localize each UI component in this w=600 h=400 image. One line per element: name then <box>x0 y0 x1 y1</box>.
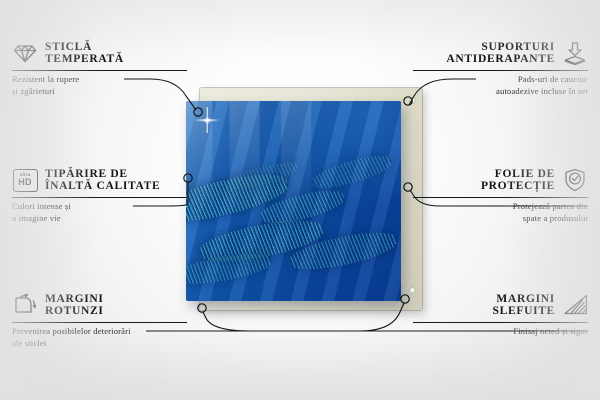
feature-hd-print[interactable]: ultra HD TIPĂRIRE DE ÎNALTĂ CALITATE Cul… <box>12 167 187 224</box>
feature-title-line: MARGINI <box>493 293 555 305</box>
feature-title-line: SLEFUITE <box>493 305 555 317</box>
feature-title-line: SUPORTURI <box>446 41 555 53</box>
feature-title: TIPĂRIRE DE ÎNALTĂ CALITATE <box>45 168 160 193</box>
feature-title-line: MARGINI <box>45 293 104 305</box>
feature-desc-line: Prevenirea posibilelor deteriorări <box>12 326 187 338</box>
feature-header: STICLĂ TEMPERATĂ <box>12 40 187 66</box>
hd-badge-hd-label: HD <box>18 178 32 187</box>
feature-description: Protejează partea din spate a produsului <box>413 201 588 224</box>
hatched-edge-icon <box>562 292 588 318</box>
ultra-hd-badge-icon: ultra HD <box>12 167 38 193</box>
feature-header: MARGINI ROTUNZI <box>12 292 187 318</box>
feature-protective-foil[interactable]: FOLIE DE PROTECȚIE Protejează partea din… <box>413 167 588 224</box>
feature-divider <box>413 322 588 323</box>
feature-desc-line: Finisaj neted și sigur <box>413 326 588 338</box>
feature-desc-line: Protejează partea din <box>413 201 588 213</box>
feature-description: Prevenirea posibilelor deteriorări ale s… <box>12 326 187 349</box>
feature-description: Culori intense și o imagine vie <box>12 201 187 224</box>
pad-arrow-down-icon <box>562 40 588 66</box>
hd-badge: ultra HD <box>13 169 38 192</box>
feature-divider <box>12 322 187 323</box>
feature-title-line: TIPĂRIRE DE <box>45 168 160 180</box>
feature-desc-line: autoadezive incluse în set <box>413 86 588 98</box>
feature-header: ultra HD TIPĂRIRE DE ÎNALTĂ CALITATE <box>12 167 187 193</box>
feature-desc-line: Culori intense și <box>12 201 187 213</box>
feature-title-line: TEMPERATĂ <box>45 53 124 65</box>
feature-title: MARGINI SLEFUITE <box>493 293 555 318</box>
feature-title-line: PROTECȚIE <box>481 180 555 192</box>
feature-title: STICLĂ TEMPERATĂ <box>45 41 124 66</box>
feature-desc-line: o imagine vie <box>12 213 187 225</box>
feature-description: Pads-uri de cauciuc autoadezive incluse … <box>413 74 588 97</box>
feature-title: SUPORTURI ANTIDERAPANTE <box>446 41 555 66</box>
feature-divider <box>413 70 588 71</box>
feature-anti-slip-grips[interactable]: SUPORTURI ANTIDERAPANTE Pads-uri de cauc… <box>413 40 588 97</box>
feature-divider <box>12 197 187 198</box>
feature-desc-line: spate a produsului <box>413 213 588 225</box>
infographic-canvas: STICLĂ TEMPERATĂ Rezistent la rupere și … <box>0 0 600 400</box>
feature-divider <box>413 197 588 198</box>
feature-description: Rezistent la rupere și zgârieturi <box>12 74 187 97</box>
feature-title-line: ÎNALTĂ CALITATE <box>45 180 160 192</box>
feature-header: SUPORTURI ANTIDERAPANTE <box>413 40 588 66</box>
feature-title-line: FOLIE DE <box>481 168 555 180</box>
shield-check-icon <box>562 167 588 193</box>
artwork-blue-feather <box>186 101 401 301</box>
feature-polished-edges[interactable]: MARGINI SLEFUITE Finisaj neted și sigur <box>413 292 588 338</box>
feature-title-line: ANTIDERAPANTE <box>446 53 555 65</box>
product-glass-panel <box>186 101 401 301</box>
feature-desc-line: Pads-uri de cauciuc <box>413 74 588 86</box>
feature-divider <box>12 70 187 71</box>
diamond-icon <box>12 40 38 66</box>
feature-title: FOLIE DE PROTECȚIE <box>481 168 555 193</box>
feature-desc-line: ale sticlei <box>12 338 187 350</box>
rounded-corner-icon <box>12 292 38 318</box>
feature-title-line: STICLĂ <box>45 41 124 53</box>
feature-header: MARGINI SLEFUITE <box>413 292 588 318</box>
product-image <box>186 88 422 310</box>
feature-title: MARGINI ROTUNZI <box>45 293 104 318</box>
feature-tempered-glass[interactable]: STICLĂ TEMPERATĂ Rezistent la rupere și … <box>12 40 187 97</box>
feature-title-line: ROTUNZI <box>45 305 104 317</box>
feature-desc-line: și zgârieturi <box>12 86 187 98</box>
feature-description: Finisaj neted și sigur <box>413 326 588 338</box>
glass-reflection <box>186 101 401 217</box>
feature-header: FOLIE DE PROTECȚIE <box>413 167 588 193</box>
feature-desc-line: Rezistent la rupere <box>12 74 187 86</box>
anti-slip-pad <box>410 98 415 103</box>
feature-rounded-edges[interactable]: MARGINI ROTUNZI Prevenirea posibilelor d… <box>12 292 187 349</box>
